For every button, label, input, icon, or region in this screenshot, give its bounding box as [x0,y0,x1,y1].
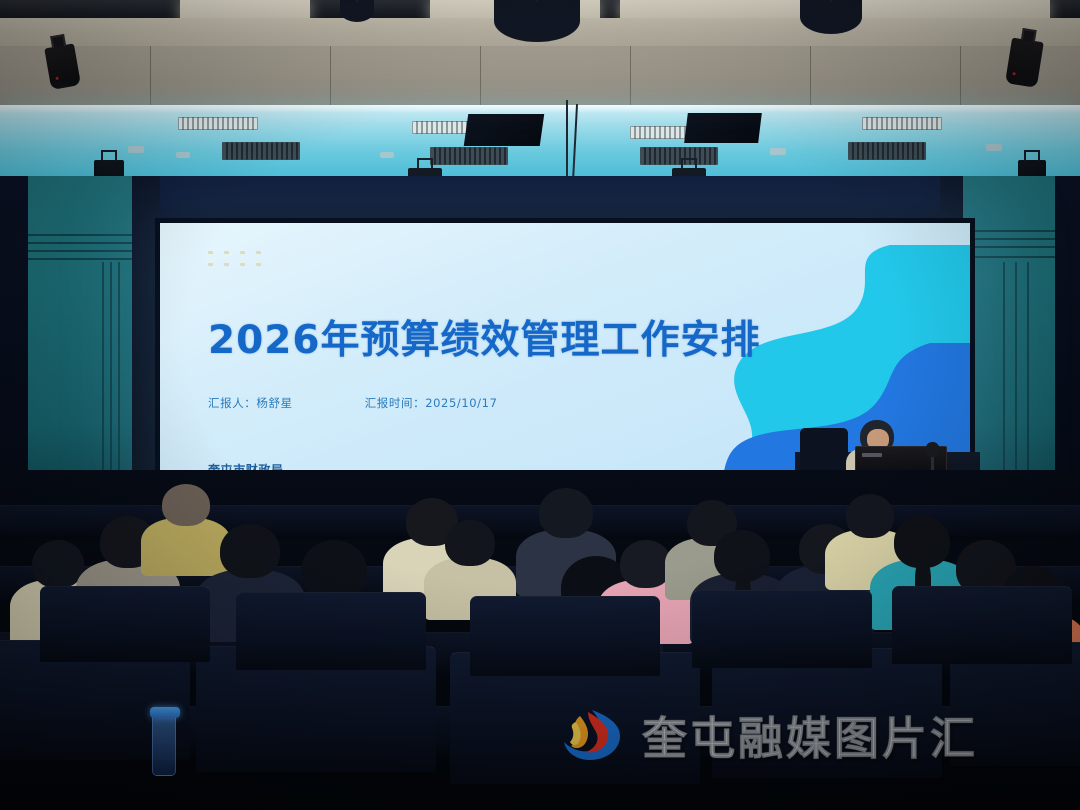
ceiling-vent [848,142,926,160]
dark-ceiling-fascia [0,176,1080,220]
ceiling-tilt-panel [684,113,762,143]
ceiling-mount [770,148,786,155]
flame-swirl-logo [558,706,630,764]
seat-back [692,590,872,668]
light-yoke [681,158,697,169]
ceiling-mount [128,146,144,153]
conference-hall-photo: 2026年预算绩效管理工作安排 汇报人：杨舒星 汇报时间：2025/10/17 … [0,0,1080,810]
ceiling-mount [986,144,1002,151]
microphone-head [926,442,939,457]
speaker-led [55,77,58,80]
speaker-bracket [50,34,66,48]
wall-seam [330,46,331,108]
ceiling-tilt-panel [464,114,544,146]
hanging-fan-lamp [800,0,862,34]
ceiling-vent [640,147,718,165]
seat-back [470,596,660,676]
person-head [301,540,367,600]
wall-seam [960,46,961,108]
ceiling-mount [380,152,394,158]
left-dark-edge [0,176,30,506]
person-head [445,520,495,566]
ceiling-vent [430,147,508,165]
hanging-fan-lamp [494,0,580,42]
watermark-text: 奎屯融媒图片汇 [642,702,978,767]
wall-seam [150,46,151,108]
seat-back [40,586,210,662]
person-head [162,484,210,526]
wall-seam [810,46,811,108]
right-dark-edge [1055,176,1080,506]
slide-datetime-label: 汇报时间：2025/10/17 [365,395,498,411]
slide-title: 2026年预算绩效管理工作安排 [208,309,761,365]
bottle-cap [150,707,180,718]
wall-seam [480,46,481,108]
light-yoke [101,150,117,161]
light-yoke [1024,150,1040,161]
slide-decorative-dots [208,251,270,273]
speaker-bracket [1021,28,1037,42]
seat-back [236,592,426,670]
light-yoke [417,158,433,169]
laptop-logo [862,453,882,457]
wall-seam [630,46,631,108]
person-head [539,488,593,538]
hanging-fan-lamp [340,0,374,22]
ceiling-cable [566,100,568,186]
slide-presenter-label: 汇报人：杨舒星 [208,395,293,411]
ceiling-vent [178,117,258,130]
ceiling-vent [862,117,942,130]
watermark: 奎屯融媒图片汇 [558,702,978,767]
water-bottle [152,714,176,776]
slide-meta-row: 汇报人：杨舒星 汇报时间：2025/10/17 [208,395,498,411]
seat-back [892,586,1072,664]
ceiling-mount [176,152,190,158]
upper-back-wall [0,46,1080,108]
presenter-chair [800,428,848,476]
ceiling-vent [222,142,300,160]
speaker-led [1012,72,1015,75]
